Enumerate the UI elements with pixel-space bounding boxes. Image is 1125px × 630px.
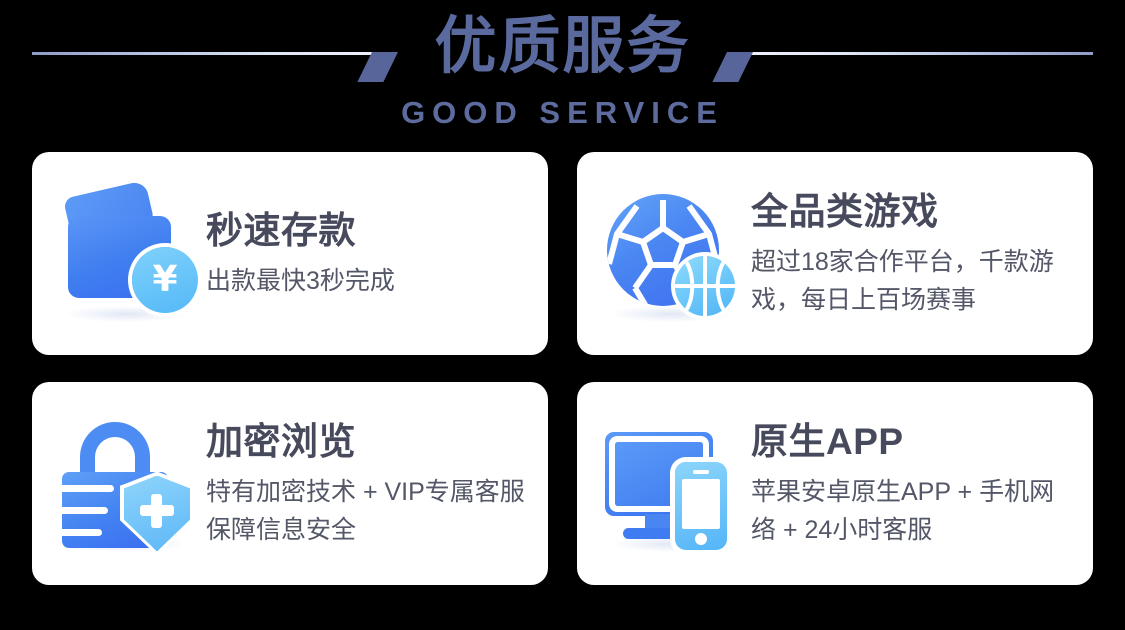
lock-stripe [62, 485, 114, 492]
feature-card-games[interactable]: 全品类游戏 超过18家合作平台，千款游戏，每日上百场赛事 [577, 152, 1093, 355]
feature-card-text: 加密浏览 特有加密技术 + VIP专属客服保障信息安全 [196, 419, 530, 549]
soccer-basketball-icon [601, 184, 741, 324]
lock-stripe [62, 507, 108, 514]
phone-screen-shape [682, 479, 720, 529]
lock-shield-icon [56, 414, 196, 554]
card-subtitle: 出款最快3秒完成 [206, 262, 530, 300]
plus-icon [151, 494, 162, 528]
feature-card-text: 秒速存款 出款最快3秒完成 [196, 208, 530, 300]
feature-card-text: 原生APP 苹果安卓原生APP + 手机网络 + 24小时客服 [741, 419, 1075, 549]
card-title: 全品类游戏 [751, 189, 1075, 235]
yen-coin-shape: ¥ [132, 247, 198, 313]
lock-stripe [62, 529, 102, 536]
phone-shape [675, 462, 727, 550]
header: 优质服务 GOOD SERVICE [0, 0, 1125, 146]
feature-card-text: 全品类游戏 超过18家合作平台，千款游戏，每日上百场赛事 [741, 189, 1075, 319]
page-subtitle: GOOD SERVICE [0, 95, 1125, 131]
card-title: 原生APP [751, 419, 1075, 465]
basketball-shape [675, 256, 735, 316]
phone-home-button-shape [695, 533, 707, 545]
page-title: 优质服务 [0, 8, 1125, 86]
card-title: 秒速存款 [206, 208, 530, 254]
promo-banner: 优质服务 GOOD SERVICE ¥ 秒速存款 出款最快3秒完成 [0, 0, 1125, 630]
feature-card-grid: ¥ 秒速存款 出款最快3秒完成 [32, 152, 1093, 585]
card-subtitle: 超过18家合作平台，千款游戏，每日上百场赛事 [751, 243, 1075, 319]
yen-symbol: ¥ [152, 262, 177, 298]
card-subtitle: 特有加密技术 + VIP专属客服保障信息安全 [206, 473, 530, 549]
feature-card-native-app[interactable]: 原生APP 苹果安卓原生APP + 手机网络 + 24小时客服 [577, 382, 1093, 585]
phone-speaker-shape [693, 470, 709, 474]
card-title: 加密浏览 [206, 419, 530, 465]
monitor-phone-icon [601, 414, 741, 554]
feature-card-encryption[interactable]: 加密浏览 特有加密技术 + VIP专属客服保障信息安全 [32, 382, 548, 585]
wallet-yen-icon: ¥ [56, 184, 196, 324]
feature-card-deposit[interactable]: ¥ 秒速存款 出款最快3秒完成 [32, 152, 548, 355]
card-subtitle: 苹果安卓原生APP + 手机网络 + 24小时客服 [751, 473, 1075, 549]
